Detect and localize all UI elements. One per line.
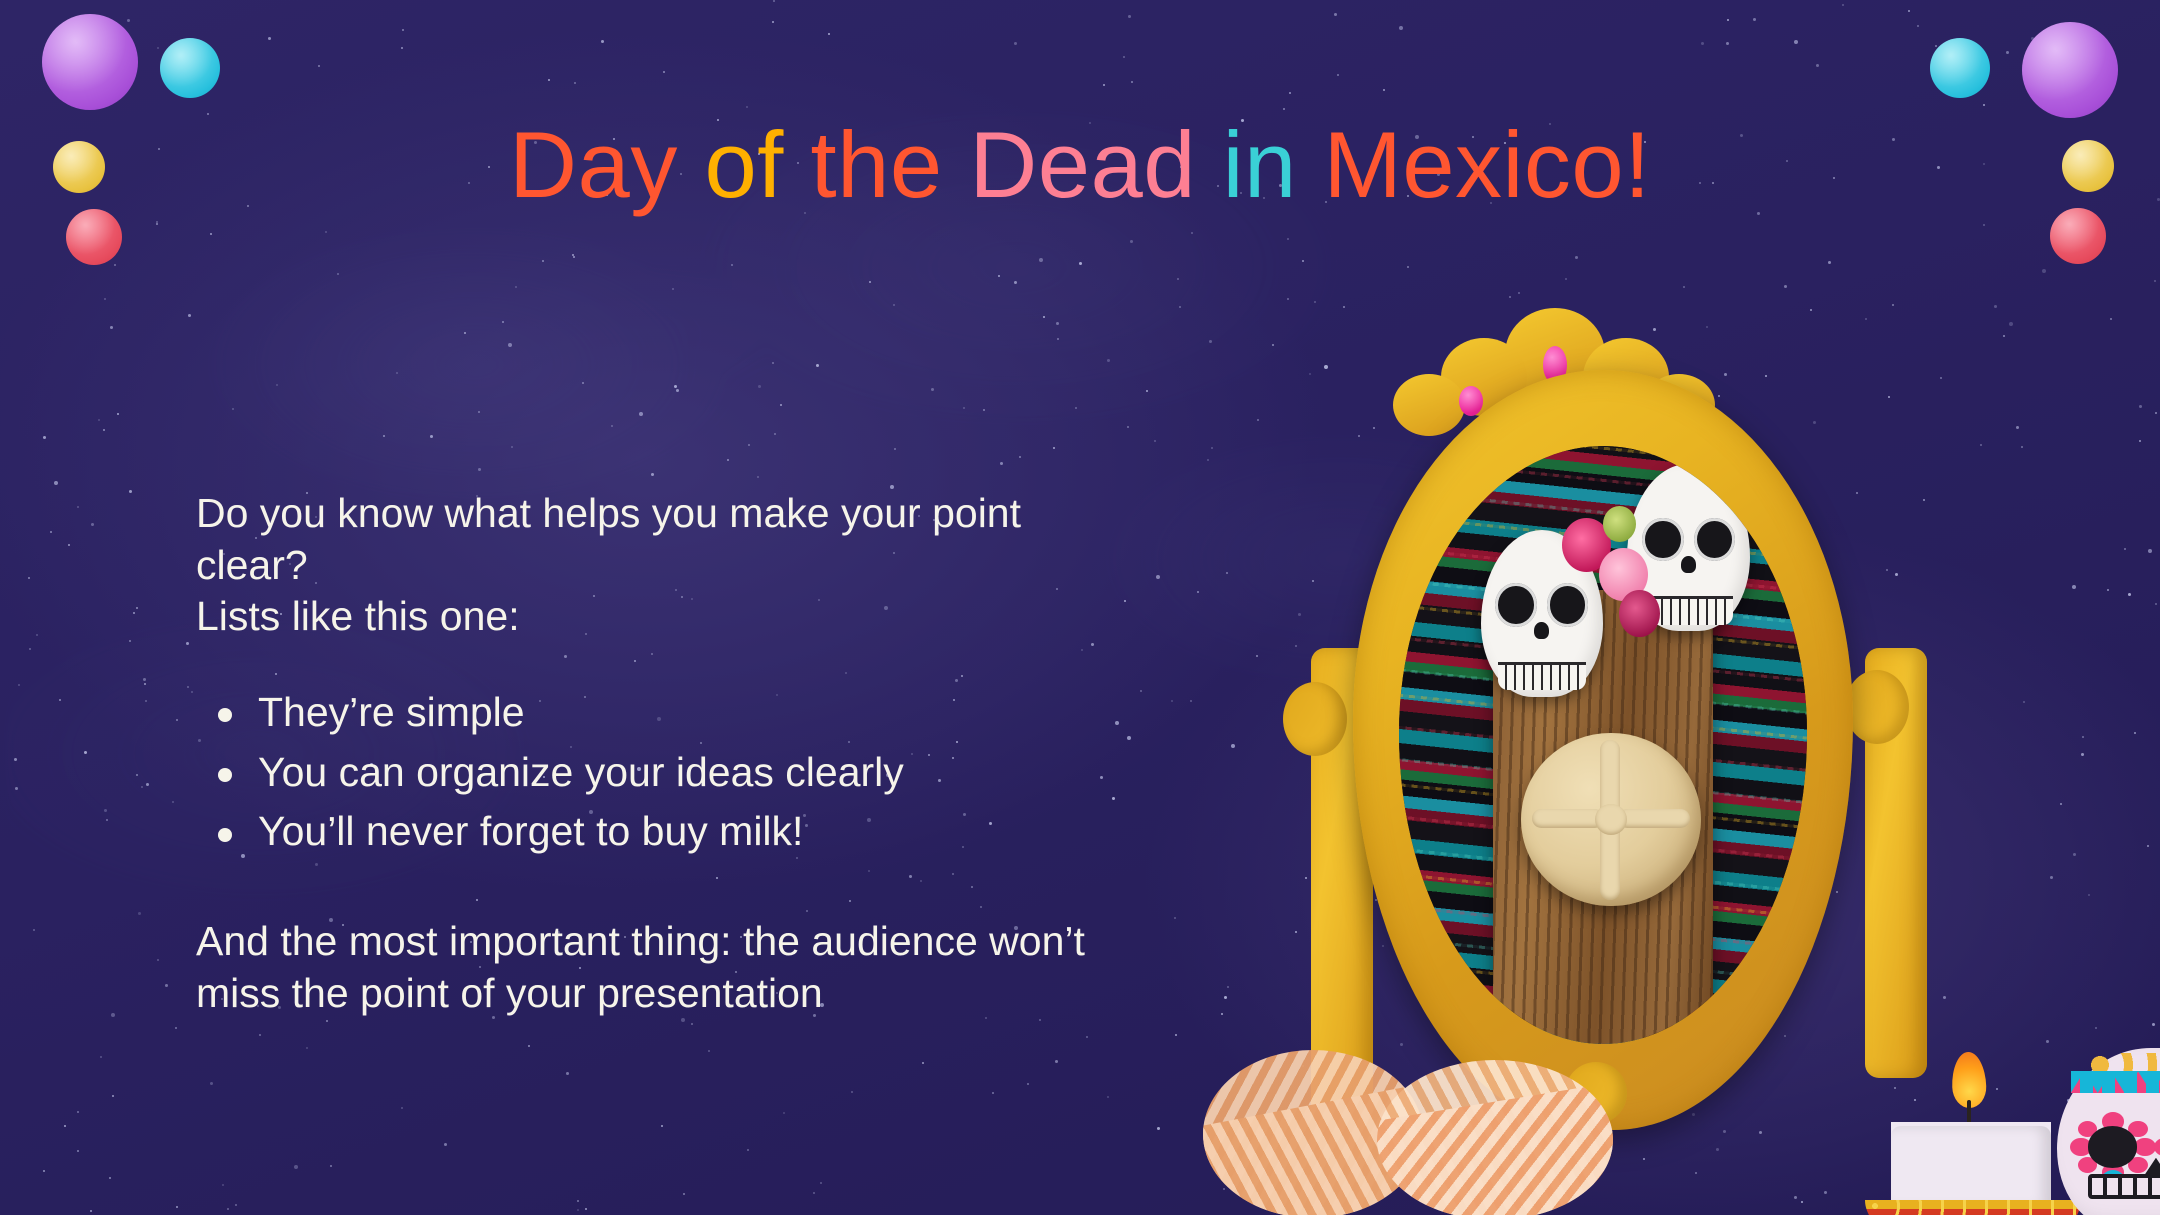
intro-line-1: Do you know what helps you make your poi… xyxy=(196,488,1156,540)
calavera-crown-scallop xyxy=(2088,1053,2160,1071)
skull-nose xyxy=(1534,622,1549,639)
outro-line-1: And the most important thing: the audien… xyxy=(196,916,1156,968)
rose-dark xyxy=(1619,590,1660,638)
purple-ball-top-left xyxy=(42,14,138,110)
title-word-7 xyxy=(1196,112,1223,217)
day-of-the-dead-artwork xyxy=(1205,370,2160,1215)
bullet-dot-icon xyxy=(218,708,232,722)
title-word-1 xyxy=(678,112,705,217)
bullet-list: They’re simple You can organize your ide… xyxy=(196,687,1156,858)
outro-paragraph: And the most important thing: the audien… xyxy=(196,916,1156,1019)
title-word-3 xyxy=(784,112,811,217)
bread-bone xyxy=(1532,809,1604,828)
slide-canvas: Day of the Dead in Mexico! Do you know w… xyxy=(0,0,2160,1215)
bullet-label: You’ll never forget to buy milk! xyxy=(258,808,803,854)
skull-nose xyxy=(1681,556,1696,573)
slide-title: Day of the Dead in Mexico! xyxy=(0,118,2160,212)
purple-ball-top-right xyxy=(2022,22,2118,118)
illustrated-calavera xyxy=(2057,1048,2160,1215)
title-word-6: Dead xyxy=(969,112,1196,217)
title-word-5 xyxy=(943,112,970,217)
skull-eye xyxy=(1547,583,1589,627)
ornate-oval-mirror xyxy=(1353,370,1853,1130)
cyan-ball-top-right xyxy=(1930,38,1990,98)
skull-eye xyxy=(1642,518,1684,562)
bullet-dot-icon xyxy=(218,768,232,782)
mirror-pivot-right xyxy=(1845,670,1909,744)
bread-center-knob xyxy=(1595,804,1627,835)
calavera-eye-socket xyxy=(2088,1126,2137,1167)
calavera-teeth xyxy=(2088,1174,2160,1199)
intro-line-2: clear? xyxy=(196,540,1156,592)
intro-paragraph: Do you know what helps you make your poi… xyxy=(196,488,1156,643)
red-ball-top-right xyxy=(2050,208,2106,264)
dish-dot-pattern xyxy=(1865,1200,2081,1215)
concha-bread-right xyxy=(1377,1060,1613,1215)
title-word-8: in xyxy=(1223,112,1297,217)
mirror-glass xyxy=(1399,446,1807,1044)
title-word-2: of xyxy=(704,112,783,217)
title-word-4: the xyxy=(811,112,943,217)
intro-line-3: Lists like this one: xyxy=(196,591,1156,643)
bullet-label: They’re simple xyxy=(258,689,525,735)
pan-de-muerto-bread xyxy=(1521,733,1701,906)
bread-bone xyxy=(1618,809,1690,828)
calavera-eye-left xyxy=(2081,1120,2146,1174)
list-item: They’re simple xyxy=(196,687,1156,739)
title-word-0: Day xyxy=(509,112,678,217)
title-word-10: Mexico! xyxy=(1323,112,1650,217)
mirror-pivot-left xyxy=(1283,682,1347,756)
rose-leaf xyxy=(1603,506,1636,542)
title-word-9 xyxy=(1297,112,1324,217)
list-item: You can organize your ideas clearly xyxy=(196,747,1156,799)
skull-eye xyxy=(1694,518,1736,562)
bullet-label: You can organize your ideas clearly xyxy=(258,749,904,795)
red-ball-top-left xyxy=(66,209,122,265)
slide-body: Do you know what helps you make your poi… xyxy=(196,488,1156,1019)
skull-jaw xyxy=(1498,662,1586,690)
cyan-ball-top-left xyxy=(160,38,220,98)
outro-line-2: miss the point of your presentation xyxy=(196,968,1156,1020)
bullet-dot-icon xyxy=(218,828,232,842)
list-item: You’ll never forget to buy milk! xyxy=(196,806,1156,858)
skull-eye xyxy=(1495,583,1537,627)
candle-body xyxy=(1891,1126,2051,1208)
